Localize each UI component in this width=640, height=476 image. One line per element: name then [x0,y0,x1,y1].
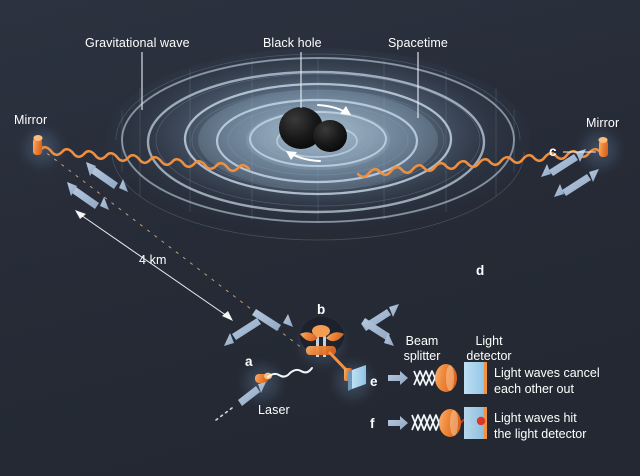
label-laser: Laser [258,403,290,418]
label-spacetime: Spacetime [388,36,448,51]
legend-heading-light-detector: Light detector [456,334,522,364]
label-black-hole: Black hole [263,36,322,51]
figure-canvas: Gravitational wave Black hole Spacetime … [0,0,640,476]
legend-text-cancel: Light waves cancel each other out [494,366,600,397]
legend-text-hit: Light waves hit the light detector [494,411,586,442]
label-gravitational-wave: Gravitational wave [85,36,190,51]
label-mirror-left: Mirror [14,113,47,128]
key-label-c: c [549,144,557,159]
key-label-b: b [317,302,325,317]
key-label-a: a [245,354,253,369]
label-distance: 4 km [139,253,167,268]
legend-heading-beam-splitter: Beam splitter [392,334,452,364]
mirror-right-icon [598,137,608,157]
label-mirror-right: Mirror [586,116,619,131]
key-label-f: f [370,416,375,431]
key-label-e: e [370,374,378,389]
diagram-svg [0,0,640,476]
key-label-d: d [476,263,484,278]
